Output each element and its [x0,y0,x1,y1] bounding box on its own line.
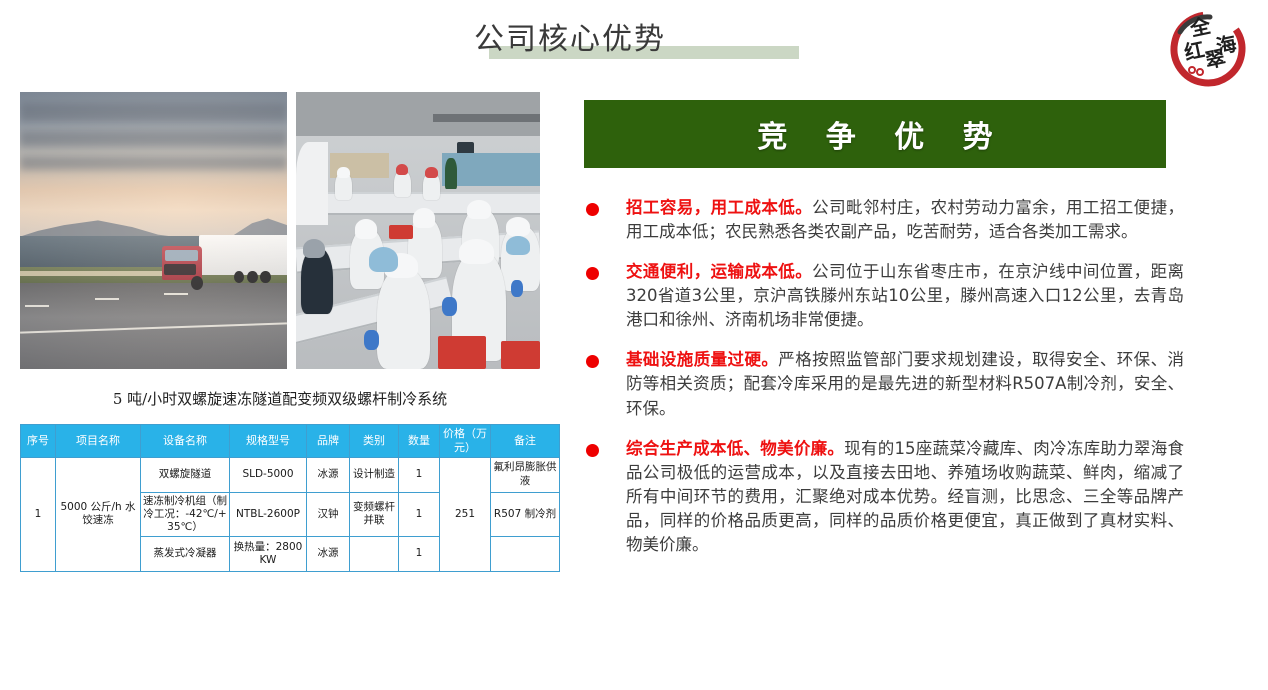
page-title-wrapper: 公司核心优势 [0,14,1140,58]
col-remark: 备注 [491,425,560,458]
hairnet-red [425,167,437,178]
cell-model: SLD-5000 [230,457,307,492]
machine-housing [296,142,328,225]
cell-model: NTBL-2600P [230,492,307,536]
worker-foreground [377,267,431,369]
cell-equipment: 速冻制冷机组（制冷工况：-42℃/+35℃） [141,492,230,536]
hairnet [506,217,530,236]
blue-glove [442,297,457,316]
list-item: 招工容易，用工成本低。公司毗邻村庄，农村劳动力富余，用工招工便捷，用工成本低；农… [584,196,1184,244]
cell-qty: 1 [399,492,440,536]
bullet-text: 招工容易，用工成本低。公司毗邻村庄，农村劳动力富余，用工招工便捷，用工成本低；农… [626,196,1184,244]
col-project: 项目名称 [56,425,141,458]
blue-glove [511,280,523,297]
bullet-dot-icon [586,355,599,368]
bullet-lead: 招工容易，用工成本低。 [626,198,812,217]
svg-text:海: 海 [1214,31,1239,59]
bullet-text: 基础设施质量过硬。严格按照监管部门要求规划建设，取得安全、环保、消防等相关资质；… [626,348,1184,420]
bullet-dot-icon [586,444,599,457]
col-qty: 数量 [399,425,440,458]
red-crate [438,336,487,369]
bullet-dot-icon [586,267,599,280]
cell-remark: 氟利昂膨胀供液 [491,457,560,492]
competitive-advantage-banner: 竞 争 优 势 [584,100,1166,168]
banner-label: 竞 争 优 势 [743,112,1006,156]
col-model: 规格型号 [230,425,307,458]
col-category: 类别 [350,425,399,458]
bullet-text: 综合生产成本低、物美价廉。现有的15座蔬菜冷藏库、肉冷冻库助力翠海食品公司极低的… [626,437,1184,557]
equipment-spec-table: 序号 项目名称 设备名称 规格型号 品牌 类别 数量 价格（万元） 备注 1 5… [20,424,560,572]
back-wall-panel [442,153,540,186]
cell-price: 251 [440,457,491,571]
red-crate [389,225,413,239]
cell-equipment: 双螺旋隧道 [141,457,230,492]
bullet-text: 交通便利，运输成本低。公司位于山东省枣庄市，在京沪线中间位置，距离320省道3公… [626,260,1184,332]
table-row: 1 5000 公斤/h 水饺速冻 双螺旋隧道 SLD-5000 冰源 设计制造 … [21,457,560,492]
col-seq: 序号 [21,425,56,458]
hairnet [467,200,491,219]
bullet-lead: 交通便利，运输成本低。 [626,262,812,281]
col-brand: 品牌 [307,425,350,458]
hairnet [337,167,349,178]
list-item: 交通便利，运输成本低。公司位于山东省枣庄市，在京沪线中间位置，距离320省道3公… [584,260,1184,332]
cell-qty: 1 [399,457,440,492]
bullet-lead: 基础设施质量过硬。 [626,350,778,369]
company-logo: 全 红 翠 海 [1162,2,1254,94]
cell-brand: 冰源 [307,536,350,571]
cell-equipment: 蒸发式冷凝器 [141,536,230,571]
photo-caption: 5 吨/小时双螺旋速冻隧道配变频双级螺杆制冷系统 [20,388,540,409]
page-title: 公司核心优势 [474,14,666,58]
cell-model: 换热量：2800KW [230,536,307,571]
cell-brand: 汉钟 [307,492,350,536]
hairnet [459,239,493,264]
hairnet [303,239,325,258]
table-header-row: 序号 项目名称 设备名称 规格型号 品牌 类别 数量 价格（万元） 备注 [21,425,560,458]
blue-glove [364,330,379,349]
cell-category [350,536,399,571]
cell-brand: 冰源 [307,457,350,492]
hairnet-blue [506,236,530,255]
cell-remark: R507 制冷剂 [491,492,560,536]
red-crate [501,341,540,369]
list-item: 综合生产成本低、物美价廉。现有的15座蔬菜冷藏库、肉冷冻库助力翠海食品公司极低的… [584,437,1184,557]
cell-category: 设计制造 [350,457,399,492]
advantages-list: 招工容易，用工成本低。公司毗邻村庄，农村劳动力富余，用工招工便捷，用工成本低；农… [584,196,1184,573]
ceiling-beam [433,114,540,122]
cell-remark [491,536,560,571]
bullet-dot-icon [586,203,599,216]
hairnet [355,219,377,238]
cell-category: 变频螺杆并联 [350,492,399,536]
cell-seq: 1 [21,457,56,571]
col-price: 价格（万元） [440,425,491,458]
hairnet-red [396,164,408,175]
list-item: 基础设施质量过硬。严格按照监管部门要求规划建设，取得安全、环保、消防等相关资质；… [584,348,1184,420]
photo-processing-line [296,92,540,369]
photo-refrigerated-truck [20,92,287,369]
hairnet-blue [369,247,398,272]
cell-qty: 1 [399,536,440,571]
worker-green [445,158,457,188]
photo-haze-overlay [20,92,287,369]
col-equipment: 设备名称 [141,425,230,458]
cell-project: 5000 公斤/h 水饺速冻 [56,457,141,571]
hairnet [413,208,435,227]
bullet-lead: 综合生产成本低、物美价廉。 [626,439,844,458]
